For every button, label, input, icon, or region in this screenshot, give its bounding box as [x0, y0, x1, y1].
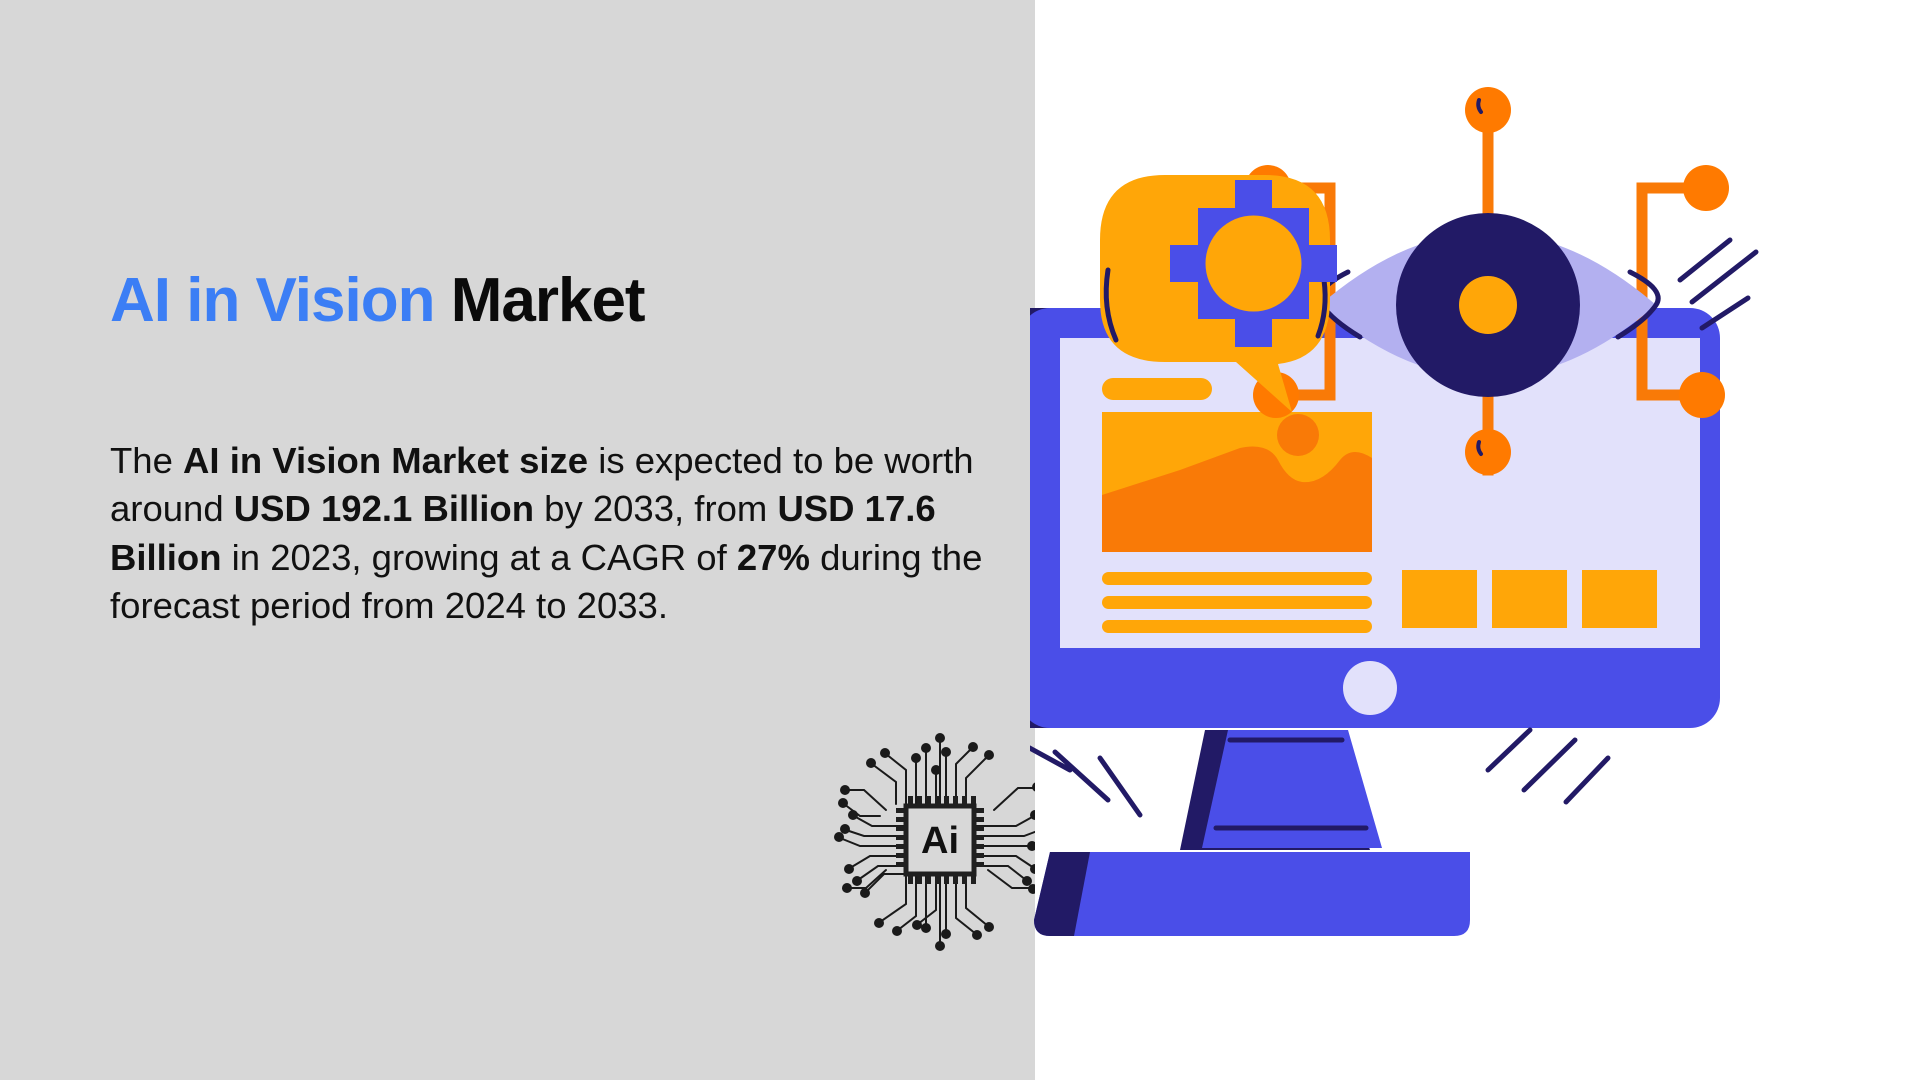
sparkle-rays-left — [1030, 740, 1140, 815]
monitor-base — [1034, 852, 1470, 936]
ai-vision-illustration — [1030, 40, 1920, 1040]
monitor-power-indicator — [1343, 661, 1397, 715]
text-run: in 2023, growing at a CAGR of — [222, 537, 737, 578]
market-summary-paragraph: The AI in Vision Market size is expected… — [110, 437, 1010, 631]
eye-pupil — [1459, 276, 1517, 334]
emphasis-run: AI in Vision Market size — [183, 440, 588, 481]
page-title-highlight: AI in Vision — [110, 266, 434, 335]
page-title: AI in Vision Market — [110, 270, 645, 332]
emphasis-run: 27% — [737, 537, 810, 578]
circuit-node-icon — [1465, 87, 1511, 133]
page-title-rest: Market — [451, 266, 645, 335]
left-content-panel: AI in Vision Market The AI in Vision Mar… — [0, 0, 1035, 1080]
chip-label: Ai — [921, 820, 959, 862]
ai-chip-circuit-icon: Ai — [820, 720, 1060, 960]
infographic-canvas: AI in Vision Market The AI in Vision Mar… — [0, 0, 1920, 1080]
emphasis-run: USD 192.1 Billion — [234, 488, 534, 529]
text-run: The — [110, 440, 183, 481]
circuit-node-icon — [1683, 165, 1729, 211]
screen-text-lines — [1102, 572, 1372, 633]
circuit-node-icon — [1465, 429, 1511, 475]
screen-image-sun — [1277, 414, 1319, 456]
screen-title-pill — [1102, 378, 1212, 400]
screen-content-blocks — [1402, 570, 1657, 628]
text-run: by 2033, from — [534, 488, 777, 529]
sparkle-rays-right — [1488, 730, 1608, 802]
gear-center-hole — [1206, 216, 1302, 312]
circuit-node-icon — [1679, 372, 1725, 418]
